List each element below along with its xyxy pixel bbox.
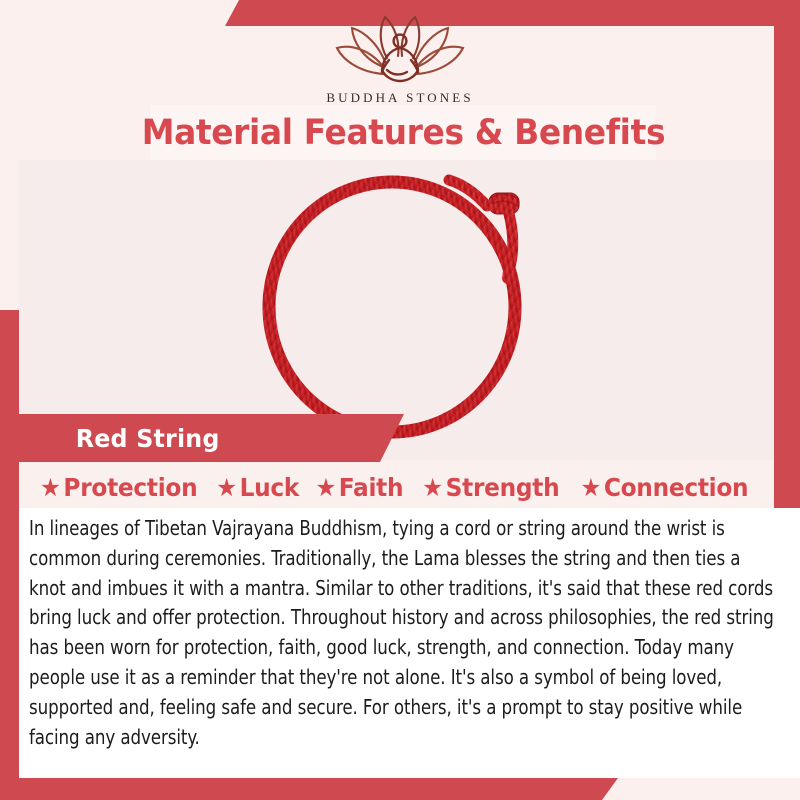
star-icon: ★ [40,475,61,500]
benefit-item-luck: ★ Luck [217,473,304,502]
red-string-bracelet-image [187,160,607,450]
benefits-row: ★ Protection ★ Luck ★ Faith ★ Strength ★… [19,466,774,508]
star-icon: ★ [422,475,443,500]
page-title-text: Material Features & Benefits [141,113,664,153]
page-title: Material Features & Benefits [150,105,656,160]
benefit-label: Protection [64,473,198,502]
brand-name: BUDDHA STONES [326,90,473,106]
star-icon: ★ [316,475,337,500]
decorative-band-left [0,310,19,800]
benefit-item-connection: ★ Connection [581,473,753,502]
benefit-label: Luck [240,473,300,502]
benefit-label: Connection [604,473,749,502]
benefit-item-faith: ★ Faith [316,473,408,502]
infographic-page: BUDDHA STONES Material Features & Benefi… [0,0,800,800]
star-icon: ★ [217,475,238,500]
benefit-label: Faith [339,473,403,502]
description-panel: In lineages of Tibetan Vajrayana Buddhis… [19,508,800,778]
material-name-ribbon: Red String [19,414,404,462]
benefit-item-protection: ★ Protection [40,473,201,502]
decorative-band-bottom [0,778,618,800]
brand-logo: BUDDHA STONES [0,14,800,106]
benefit-label: Strength [446,473,560,502]
description-text: In lineages of Tibetan Vajrayana Buddhis… [29,514,778,752]
lotus-meditation-icon [325,14,475,88]
benefit-item-strength: ★ Strength [422,473,563,502]
star-icon: ★ [581,475,602,500]
material-name-label: Red String [76,424,220,453]
